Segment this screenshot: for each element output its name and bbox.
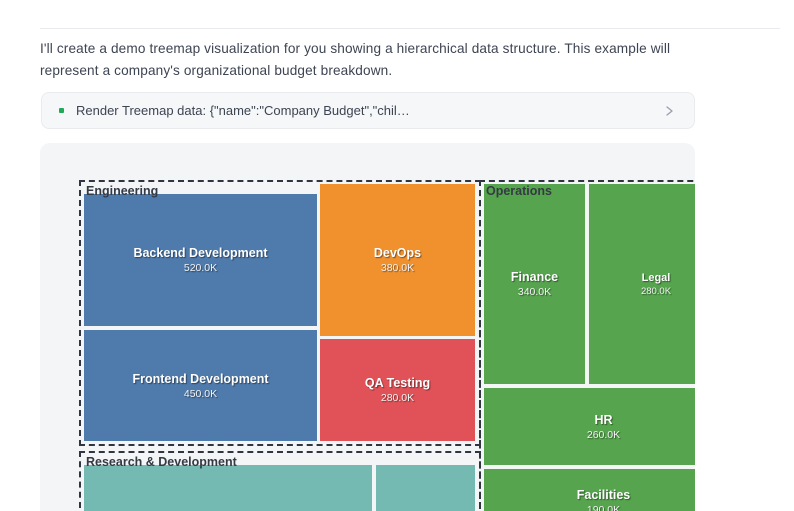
leaf-label: QA Testing xyxy=(365,376,430,390)
leaf-value: 520.0K xyxy=(184,262,217,274)
treemap-leaf-rd-secondary[interactable] xyxy=(376,465,475,511)
treemap-leaf-legal[interactable]: Legal 280.0K xyxy=(589,184,695,384)
page-root: I'll create a demo treemap visualization… xyxy=(0,0,794,511)
group-label-engineering: Engineering xyxy=(86,184,158,198)
chevron-right-icon[interactable] xyxy=(662,104,676,118)
leaf-value: 340.0K xyxy=(518,286,551,298)
leaf-value: 260.0K xyxy=(587,429,620,441)
treemap-leaf-frontend-development[interactable]: Frontend Development 450.0K xyxy=(84,330,317,441)
tool-call-label: Render Treemap data: {"name":"Company Bu… xyxy=(76,103,662,118)
treemap-chart: Engineering Backend Development 520.0K F… xyxy=(79,180,695,511)
treemap-leaf-facilities[interactable]: Facilities 190.0K xyxy=(484,469,695,511)
tool-call-row[interactable]: Render Treemap data: {"name":"Company Bu… xyxy=(41,92,695,129)
treemap-leaf-hr[interactable]: HR 260.0K xyxy=(484,388,695,465)
treemap-panel: Engineering Backend Development 520.0K F… xyxy=(40,143,695,511)
treemap-leaf-qa-testing[interactable]: QA Testing 280.0K xyxy=(320,339,475,441)
status-dot-icon xyxy=(59,108,64,113)
leaf-value: 450.0K xyxy=(184,388,217,400)
leaf-label: Finance xyxy=(511,270,558,284)
section-divider xyxy=(40,28,780,29)
treemap-leaf-devops[interactable]: DevOps 380.0K xyxy=(320,184,475,336)
leaf-label: Legal xyxy=(642,272,671,284)
assistant-message: I'll create a demo treemap visualization… xyxy=(40,38,688,82)
leaf-label: Backend Development xyxy=(133,246,267,260)
group-label-operations: Operations xyxy=(486,184,552,198)
treemap-leaf-backend-development[interactable]: Backend Development 520.0K xyxy=(84,194,317,326)
leaf-label: Frontend Development xyxy=(132,372,268,386)
treemap-leaf-finance[interactable]: Finance 340.0K xyxy=(484,184,585,384)
leaf-value: 280.0K xyxy=(381,392,414,404)
leaf-label: HR xyxy=(594,413,612,427)
leaf-label: DevOps xyxy=(374,246,421,260)
treemap-leaf-ai-research[interactable]: AI Research xyxy=(84,465,372,511)
group-label-research-development: Research & Development xyxy=(86,455,237,469)
leaf-value: 380.0K xyxy=(381,262,414,274)
leaf-label: Facilities xyxy=(577,488,631,502)
leaf-value: 190.0K xyxy=(587,504,620,511)
leaf-value: 280.0K xyxy=(641,286,671,297)
